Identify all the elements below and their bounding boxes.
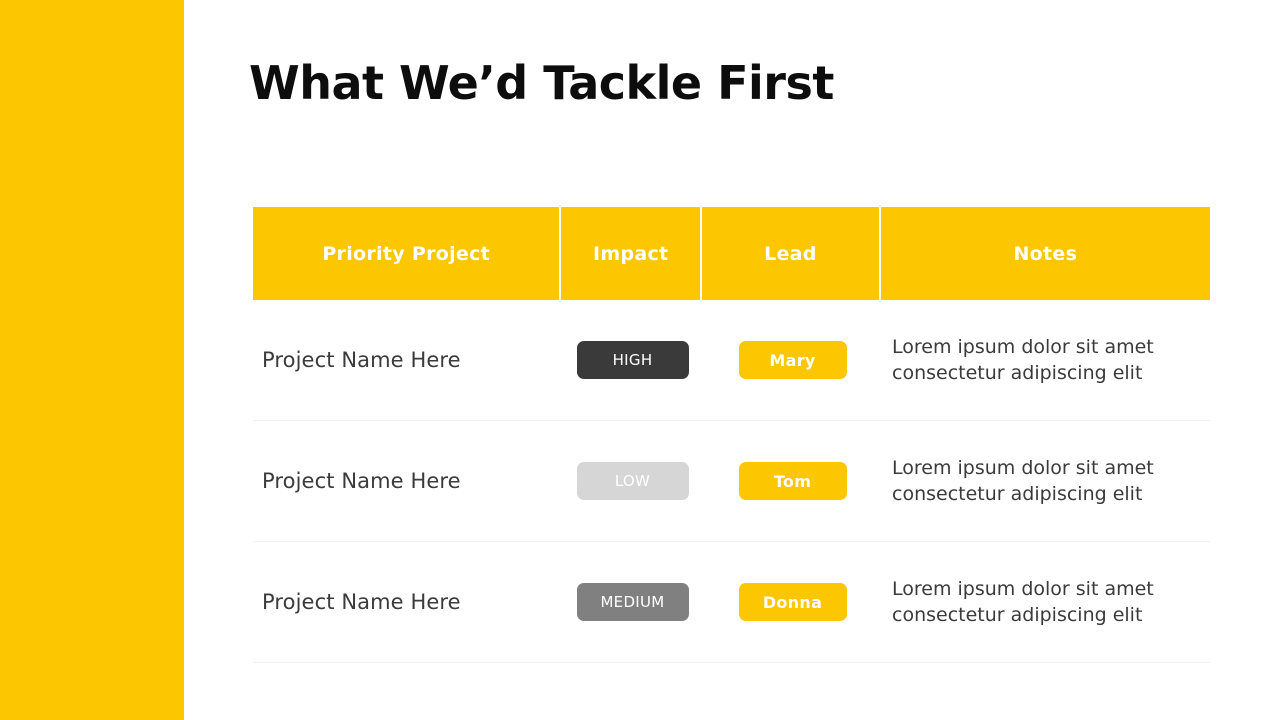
- impact-badge-high[interactable]: HIGH: [577, 341, 689, 379]
- impact-badge-medium[interactable]: MEDIUM: [577, 583, 689, 621]
- notes-line-2: consectetur adipiscing elit: [892, 481, 1154, 507]
- page-title: What We’d Tackle First: [249, 56, 834, 111]
- table-row: Project Name Here MEDIUM Donna Lorem ips…: [253, 542, 1210, 663]
- lead-badge-tom[interactable]: Tom: [739, 462, 847, 500]
- cell-impact: LOW: [562, 421, 703, 541]
- cell-lead: Mary: [703, 300, 882, 420]
- cell-project-name: Project Name Here: [253, 421, 562, 541]
- lead-badge-mary[interactable]: Mary: [739, 341, 847, 379]
- impact-badge-low[interactable]: LOW: [577, 462, 689, 500]
- table-row: Project Name Here LOW Tom Lorem ipsum do…: [253, 421, 1210, 542]
- notes-line-1: Lorem ipsum dolor sit amet: [892, 576, 1154, 602]
- notes-line-1: Lorem ipsum dolor sit amet: [892, 455, 1154, 481]
- left-accent-bar: [0, 0, 184, 720]
- table-header-row: Priority Project Impact Lead Notes: [253, 207, 1210, 300]
- cell-notes: Lorem ipsum dolor sit amet consectetur a…: [882, 421, 1210, 541]
- cell-lead: Tom: [703, 421, 882, 541]
- column-header-priority-project: Priority Project: [253, 207, 559, 300]
- cell-notes: Lorem ipsum dolor sit amet consectetur a…: [882, 542, 1210, 662]
- cell-project-name: Project Name Here: [253, 300, 562, 420]
- cell-impact: HIGH: [562, 300, 703, 420]
- table-body: Project Name Here HIGH Mary Lorem ipsum …: [253, 300, 1210, 663]
- cell-project-name: Project Name Here: [253, 542, 562, 662]
- notes-line-2: consectetur adipiscing elit: [892, 360, 1154, 386]
- column-header-notes: Notes: [881, 207, 1210, 300]
- column-header-lead: Lead: [702, 207, 879, 300]
- column-header-impact: Impact: [561, 207, 700, 300]
- cell-impact: MEDIUM: [562, 542, 703, 662]
- cell-lead: Donna: [703, 542, 882, 662]
- slide-canvas: What We’d Tackle First Priority Project …: [0, 0, 1280, 720]
- cell-notes: Lorem ipsum dolor sit amet consectetur a…: [882, 300, 1210, 420]
- notes-line-1: Lorem ipsum dolor sit amet: [892, 334, 1154, 360]
- lead-badge-donna[interactable]: Donna: [739, 583, 847, 621]
- table-row: Project Name Here HIGH Mary Lorem ipsum …: [253, 300, 1210, 421]
- notes-line-2: consectetur adipiscing elit: [892, 602, 1154, 628]
- priority-projects-table: Priority Project Impact Lead Notes Proje…: [253, 207, 1210, 663]
